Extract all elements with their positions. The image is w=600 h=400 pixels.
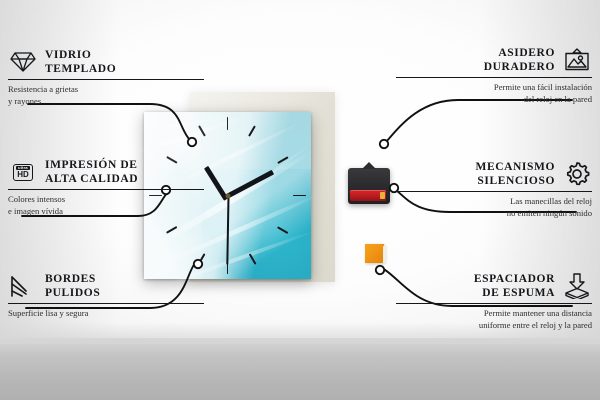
divider: [396, 303, 592, 304]
ultra-hd-badge-icon: ultra HD: [8, 158, 38, 186]
divider: [396, 191, 592, 192]
divider: [8, 79, 204, 80]
feature-title: ASIDERO DURADERO: [484, 46, 555, 74]
feature-espaciador-de-espuma: ESPACIADOR DE ESPUMA Permite mantener un…: [396, 272, 592, 331]
infographic-canvas: VIDRIO TEMPLADO Resistencia a grietas y …: [0, 0, 600, 400]
feature-impresion-alta-calidad: ultra HD IMPRESIÓN DE ALTA CALIDAD Color…: [8, 158, 204, 217]
connector-dot-bordes: [194, 260, 202, 268]
feature-description: Permite una fácil instalación del reloj …: [396, 82, 592, 105]
connector-dot-espaciador: [376, 266, 384, 274]
polished-edges-icon: [8, 272, 38, 300]
divider: [8, 303, 204, 304]
feature-vidrio-templado: VIDRIO TEMPLADO Resistencia a grietas y …: [8, 48, 204, 107]
feature-title: IMPRESIÓN DE ALTA CALIDAD: [45, 158, 138, 186]
feature-description: Superficie lisa y segura: [8, 308, 204, 320]
diamond-icon: [8, 48, 38, 76]
feature-description: Permite mantener una distancia uniforme …: [396, 308, 592, 331]
feature-bordes-pulidos: BORDES PULIDOS Superficie lisa y segura: [8, 272, 204, 320]
feature-description: Las manecillas del reloj no emiten ningú…: [396, 196, 592, 219]
hanging-frame-icon: [562, 46, 592, 74]
divider: [8, 189, 204, 190]
feature-description: Resistencia a grietas y rayones: [8, 84, 204, 107]
feature-description: Colores intensos e imagen vívida: [8, 194, 204, 217]
feature-title: BORDES PULIDOS: [45, 272, 100, 300]
foam-spacer-icon: [562, 272, 592, 300]
hd-main-label: HD: [17, 171, 29, 179]
feature-mecanismo-silencioso: MECANISMO SILENCIOSO Las manecillas del …: [396, 160, 592, 219]
hd-ultra-label: ultra: [16, 166, 30, 170]
feature-title: ESPACIADOR DE ESPUMA: [474, 272, 555, 300]
connector-dot-asidero: [380, 140, 388, 148]
feature-title: MECANISMO SILENCIOSO: [475, 160, 555, 188]
clock-center-hub: [225, 193, 230, 198]
gear-icon: [562, 160, 592, 188]
divider: [396, 77, 592, 78]
feature-asidero-duradero: ASIDERO DURADERO Permite una fácil insta…: [396, 46, 592, 105]
feature-title: VIDRIO TEMPLADO: [45, 48, 116, 76]
connector-dot-vidrio: [188, 138, 196, 146]
